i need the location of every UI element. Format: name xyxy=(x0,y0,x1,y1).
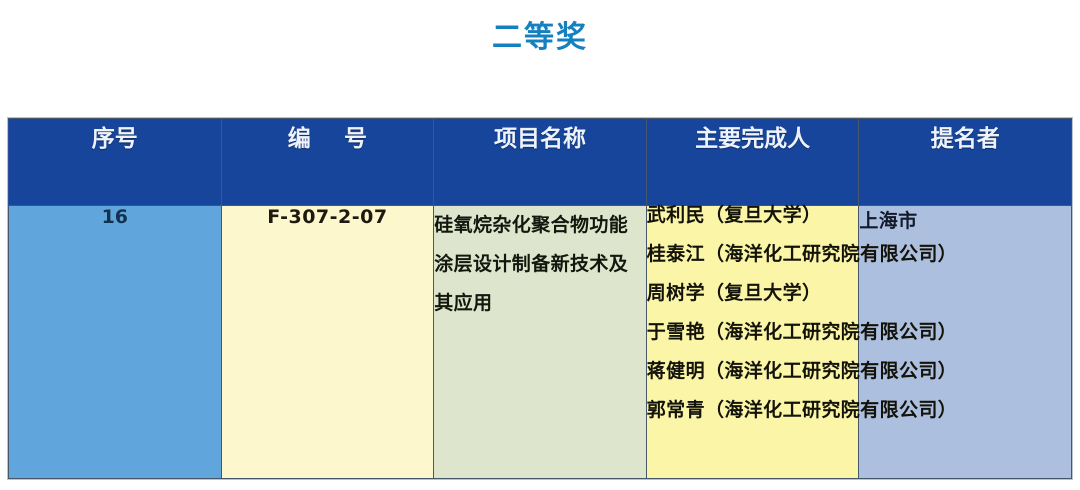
person-line: 郭常青（海洋化工研究院有限公司） xyxy=(647,401,859,420)
table-body: 16 F-307-2-07 硅氧烷杂化聚合物功能涂层设计制备新技术及其应用 武利… xyxy=(9,206,1072,479)
award-table: 序号 编 号 项目名称 主要完成人 提名者 16 F-307-2-07 硅氧烷杂… xyxy=(8,118,1072,479)
person-line: 桂泰江（海洋化工研究院有限公司） xyxy=(647,245,859,264)
column-header-project: 项目名称 xyxy=(434,119,647,206)
column-header-people: 主要完成人 xyxy=(646,119,859,206)
column-header-code-label: 编 号 xyxy=(275,126,380,152)
column-header-nominator: 提名者 xyxy=(859,119,1072,206)
person-line: 武利民（复旦大学） xyxy=(647,206,859,225)
table-header-row: 序号 编 号 项目名称 主要完成人 提名者 xyxy=(9,119,1072,206)
table-header: 序号 编 号 项目名称 主要完成人 提名者 xyxy=(9,119,1072,206)
cell-people: 武利民（复旦大学） 桂泰江（海洋化工研究院有限公司） 周树学（复旦大学） 于雪艳… xyxy=(646,206,859,479)
person-line: 于雪艳（海洋化工研究院有限公司） xyxy=(647,323,859,342)
column-header-seq: 序号 xyxy=(9,119,222,206)
cell-code: F-307-2-07 xyxy=(221,206,434,479)
page-title: 二等奖 xyxy=(0,18,1080,57)
person-line: 蒋健明（海洋化工研究院有限公司） xyxy=(647,362,859,381)
table-row: 16 F-307-2-07 硅氧烷杂化聚合物功能涂层设计制备新技术及其应用 武利… xyxy=(9,206,1072,479)
cell-project: 硅氧烷杂化聚合物功能涂层设计制备新技术及其应用 xyxy=(434,206,647,479)
cell-seq: 16 xyxy=(9,206,222,479)
column-header-code: 编 号 xyxy=(221,119,434,206)
person-line: 周树学（复旦大学） xyxy=(647,284,859,303)
